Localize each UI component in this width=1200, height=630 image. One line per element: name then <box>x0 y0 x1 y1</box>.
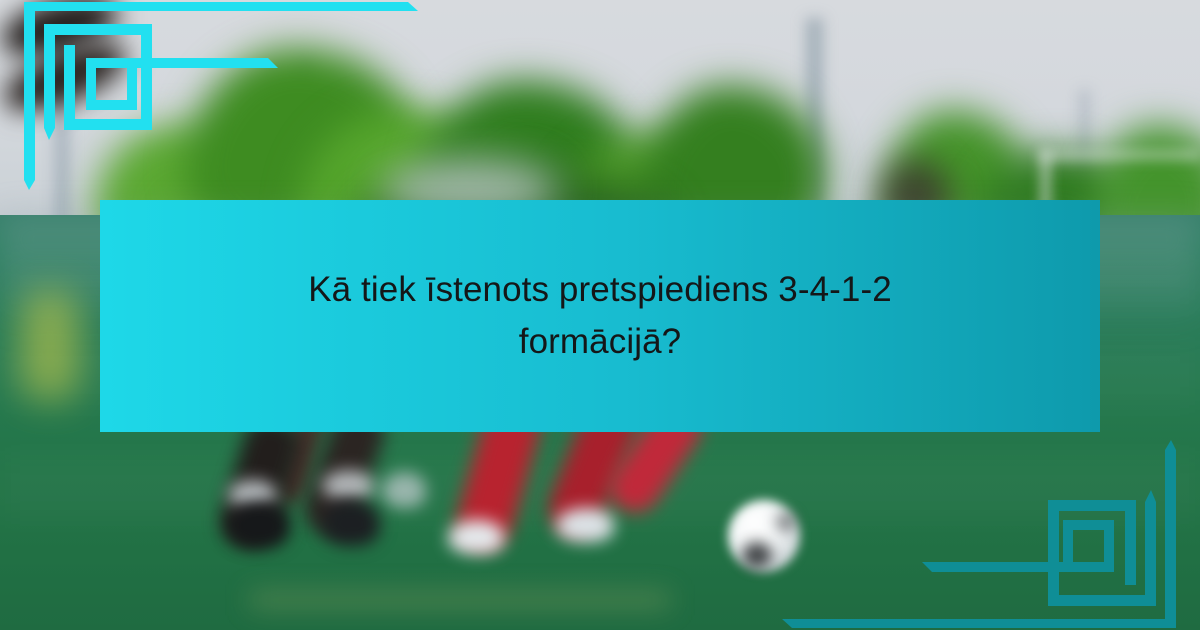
pitch-marking <box>250 592 670 608</box>
player-shoe <box>322 470 374 500</box>
decoration-lines-top-left <box>24 2 418 190</box>
corner-decoration-top-left <box>0 0 420 200</box>
player-shoe <box>382 472 426 508</box>
page-title: Kā tiek īstenots pretspiediens 3-4-1-2 f… <box>160 264 1040 368</box>
player-shoe-dark <box>228 502 290 548</box>
blurred-field-marker <box>20 290 80 400</box>
goal-crossbar <box>1040 150 1200 160</box>
player-shoe-white <box>556 508 614 542</box>
soccer-ball-panel <box>742 542 772 568</box>
share-card: Kā tiek īstenots pretspiediens 3-4-1-2 f… <box>0 0 1200 630</box>
decoration-lines-bottom-right <box>782 440 1176 628</box>
headline-banner: Kā tiek īstenots pretspiediens 3-4-1-2 f… <box>100 200 1100 432</box>
corner-decoration-bottom-right <box>780 430 1200 630</box>
player-shoe-white <box>448 520 504 554</box>
player-shoe-dark <box>322 500 380 546</box>
